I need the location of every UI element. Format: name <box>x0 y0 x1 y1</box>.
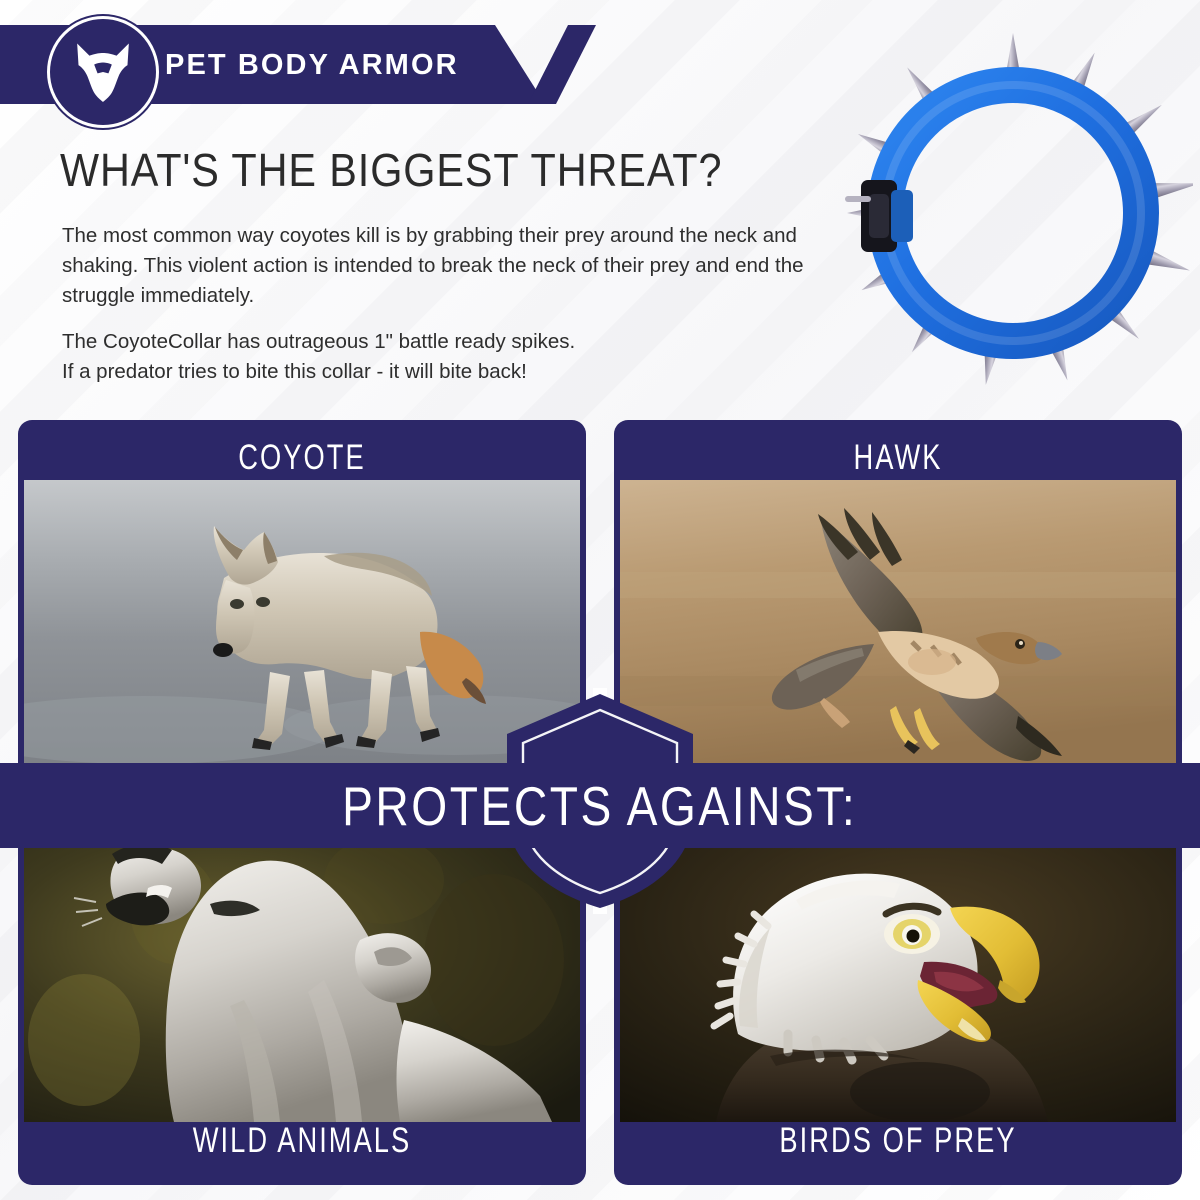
blue-spiked-collar-photo <box>833 18 1193 408</box>
brand-logo-badge <box>47 16 159 128</box>
intro-paragraph-2: The CoyoteCollar has outrageous 1" battl… <box>62 327 807 387</box>
wolf-head-icon <box>69 38 137 106</box>
brand-name-text: PET BODY ARMOR <box>165 49 459 82</box>
protects-against-banner: PROTECTS AGAINST: <box>0 763 1200 848</box>
card-label-hawk: HAWK <box>676 438 1119 478</box>
card-label-coyote: COYOTE <box>80 438 523 478</box>
intro-paragraph-1: The most common way coyotes kill is by g… <box>62 221 807 311</box>
protects-against-text: PROTECTS AGAINST: <box>342 774 857 838</box>
card-label-birds-of-prey: BIRDS OF PREY <box>676 1121 1119 1161</box>
intro-paragraph-2-line-1: The CoyoteCollar has outrageous 1" battl… <box>62 327 807 357</box>
card-label-wild-animals: WILD ANIMALS <box>80 1121 523 1161</box>
hawk-in-flight-photo <box>620 480 1176 767</box>
page-title: WHAT'S THE BIGGEST THREAT? <box>60 143 722 197</box>
bald-eagle-photo <box>620 840 1176 1122</box>
collar-strap <box>885 85 1141 341</box>
infographic-poster: PET BODY ARMOR WHAT'S THE BIGGEST THREAT… <box>0 0 1200 1200</box>
collar-buckle <box>845 180 913 252</box>
intro-paragraph-2-line-2: If a predator tries to bite this collar … <box>62 357 807 387</box>
